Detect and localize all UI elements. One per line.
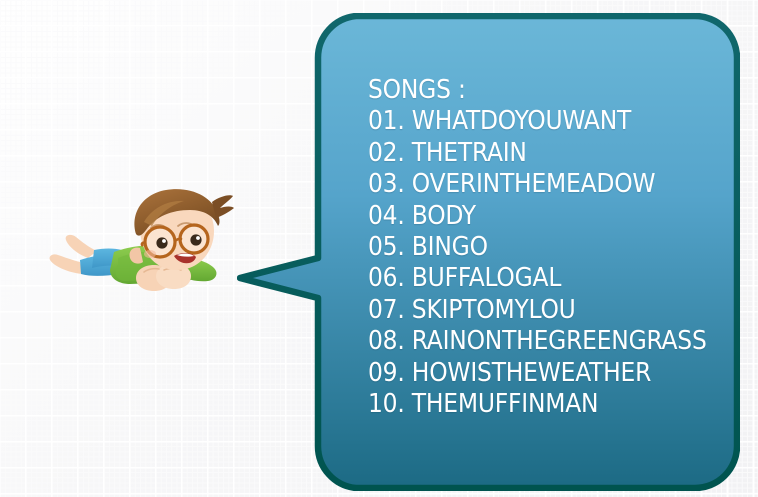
boy-lying-down-illustration (44, 186, 234, 308)
song-item-6: 06. BUFFALOGAL (368, 263, 734, 294)
song-item-5: 05. BINGO (368, 232, 734, 263)
boy-eye-right (190, 234, 201, 245)
song-item-3: 03. OVERINTHEMEADOW (368, 169, 734, 200)
songs-heading: SONGS : (368, 75, 734, 106)
song-list: SONGS : 01. WHATDOYOUWANT 02. THETRAIN 0… (368, 75, 734, 420)
song-item-2: 02. THETRAIN (368, 138, 734, 169)
song-item-9: 09. HOWISTHEWEATHER (368, 358, 734, 389)
illustration-canvas: SONGS : 01. WHATDOYOUWANT 02. THETRAIN 0… (0, 0, 758, 497)
boy-head (134, 189, 234, 270)
boy-eye-left (156, 237, 167, 248)
song-item-4: 04. BODY (368, 201, 734, 232)
song-item-7: 07. SKIPTOMYLOU (368, 295, 734, 326)
boy-hair-tuft (212, 195, 234, 218)
song-item-1: 01. WHATDOYOUWANT (368, 106, 734, 137)
song-item-8: 08. RAINONTHEGREENGRASS (368, 326, 734, 357)
song-item-10: 10. THEMUFFINMAN (368, 389, 734, 420)
